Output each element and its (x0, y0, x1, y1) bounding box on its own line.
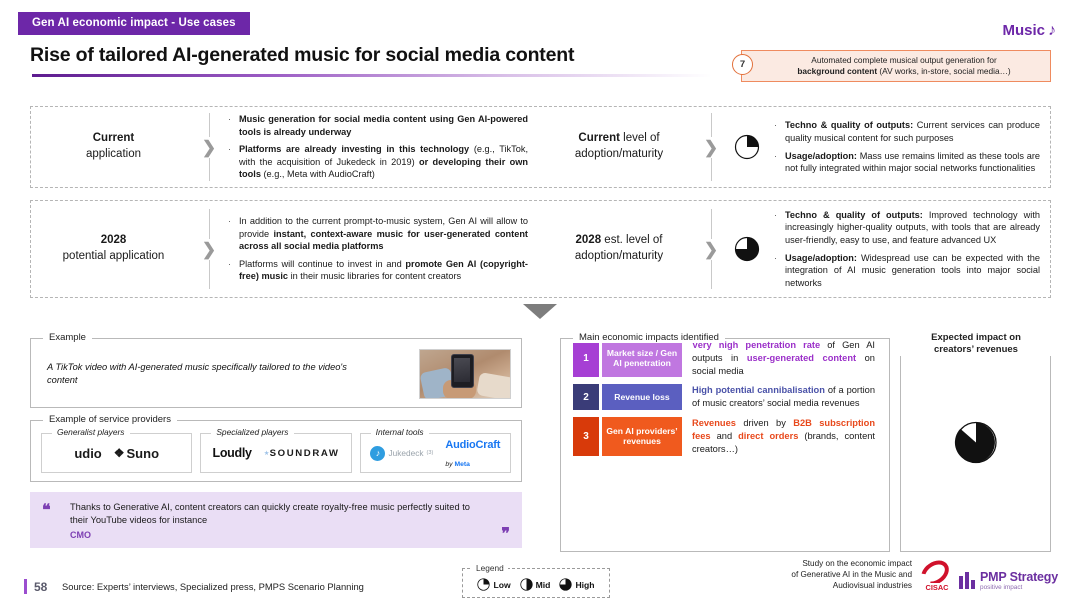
audiocraft-logo: AudioCraft by Meta (445, 435, 500, 471)
bullet-text: Techno & quality of outputs: Improved te… (785, 209, 1040, 247)
impact-2-description: High potential cannibalisation of a port… (682, 384, 877, 410)
bullet-dot-icon: · (228, 143, 239, 181)
bullet-text: In addition to the current prompt-to-mus… (239, 215, 528, 253)
expected-legend-line1: Expected impact on (931, 332, 1021, 343)
current-maturity-pie (724, 107, 770, 187)
providers-groups: Generalist players udio ❖ Suno Specializ… (31, 421, 521, 481)
chevron-divider-2: ❯ (698, 107, 724, 187)
row-current-label: Current application (31, 107, 196, 187)
internal-tools-legend: Internal tools (371, 427, 429, 437)
bullet-dot-icon: · (774, 150, 785, 175)
impact-3-description: Revenues driven by B2B subscription fees… (682, 417, 877, 455)
row-2028-label-strong: 2028 (101, 233, 127, 249)
generalist-players-legend: Generalist players (52, 427, 130, 437)
bullet-dot-icon: · (774, 209, 785, 247)
suno-mark-icon: ❖ (114, 446, 125, 460)
impact-1-description: Very high penetration rate of Gen AI out… (682, 339, 877, 377)
pie-very-high-icon (954, 421, 998, 465)
bullet-item: · Music generation for social media cont… (228, 113, 528, 138)
bullet-text: Music generation for social media conten… (239, 113, 528, 138)
row-current-bullets: · Music generation for social media cont… (222, 107, 540, 187)
udio-logo: udio (74, 446, 101, 461)
2028-maturity-pie (724, 201, 770, 297)
jukedeck-logo-text: Jukedeck (388, 448, 423, 458)
usecase-number-circle: 7 (732, 54, 753, 75)
expected-impact-legend: Expected impact on creators’ revenues (896, 332, 1056, 356)
study-line3: Audiovisual industries (833, 581, 912, 590)
expected-impact-box: Expected impact on creators’ revenues (900, 338, 1051, 552)
legend-box: Legend Low Mid High (462, 568, 610, 598)
row-current-label-rest: application (86, 147, 141, 163)
providers-box-legend: Example of service providers (43, 414, 177, 425)
bullet-dot-icon: · (774, 252, 785, 290)
person-filming-with-phone-photo (419, 349, 511, 399)
usecase-line1: Automated complete musical output genera… (811, 55, 996, 65)
music-note-icon: ♪ (1048, 22, 1056, 39)
legend-item-mid: Mid (520, 578, 551, 591)
soundraw-logo: ⋆SOUNDRAW (264, 448, 340, 459)
bullet-item: · In addition to the current prompt-to-m… (228, 215, 528, 253)
bullet-item: · Platforms are already investing in thi… (228, 143, 528, 181)
legend-title: Legend (472, 563, 508, 573)
audiocraft-by: by Meta (445, 461, 470, 468)
photo-phone (451, 354, 474, 389)
page-title: Rise of tailored AI-generated music for … (30, 44, 574, 67)
bullet-dot-icon: · (228, 215, 239, 253)
photo-phone-screen (454, 358, 470, 382)
kicker-badge: Gen AI economic impact - Use cases (18, 12, 250, 35)
internal-tools-group: Internal tools ♪ Jukedeck (3) AudioCraft… (360, 433, 511, 473)
impacts-box-legend: Main economic impacts identified (573, 332, 725, 343)
quote-text: Thanks to Generative AI, content creator… (70, 501, 482, 528)
economic-impacts-box: Main economic impacts identified 1 Marke… (560, 338, 890, 552)
bullet-item: · Usage/adoption: Widespread use can be … (774, 252, 1040, 290)
bullet-item: · Techno & quality of outputs: Improved … (774, 209, 1040, 247)
meta-logo-text: Meta (454, 461, 470, 468)
usecase-bold: background content (797, 66, 877, 76)
row-2028-application: 2028 potential application ❯ · In additi… (30, 200, 1051, 298)
maturity-label-strong: 2028 (576, 234, 602, 246)
row-2028-right-bullets: · Techno & quality of outputs: Improved … (770, 201, 1050, 297)
bullet-dot-icon: · (774, 119, 785, 144)
impact-3-name: Gen AI providers’ revenues (602, 417, 682, 455)
suno-logo-text: Suno (127, 446, 160, 461)
usecase-badge-text: Automated complete musical output genera… (742, 55, 1050, 77)
quote-open-icon: ❝ (42, 500, 51, 520)
source-text: Source: Experts’ interviews, Specialized… (62, 581, 364, 592)
bullet-text: Usage/adoption: Widespread use can be ex… (785, 252, 1040, 290)
bullet-text: Techno & quality of outputs: Current ser… (785, 119, 1040, 144)
pmp-bars-icon (959, 572, 975, 589)
specialized-players-legend: Specialized players (211, 427, 293, 437)
bullet-item: · Platforms will continue to invest in a… (228, 258, 528, 283)
music-label-text: Music (1002, 22, 1045, 39)
bullet-dot-icon: · (228, 113, 239, 138)
impact-3-number: 3 (573, 417, 599, 455)
pie-low-icon (734, 134, 760, 160)
cisac-logo: CISAC (918, 562, 954, 592)
page-number-bar (24, 579, 27, 594)
service-providers-box: Example of service providers Generalist … (30, 420, 522, 482)
legend-item-high: High (559, 578, 594, 591)
usecase-badge: Automated complete musical output genera… (741, 50, 1051, 82)
chevron-right-icon: ❯ (202, 137, 216, 158)
row-current-right-bullets: · Techno & quality of outputs: Current s… (770, 107, 1050, 187)
page-number-block: 58 (24, 579, 47, 594)
bullet-text: Platforms are already investing in this … (239, 143, 528, 181)
usecase-rest: (AV works, in-store, social media…) (877, 66, 1011, 76)
pie-mid-icon (520, 578, 533, 591)
chevron-divider-1: ❯ (196, 107, 222, 187)
row-2028-bullets: · In addition to the current prompt-to-m… (222, 201, 540, 297)
title-underline (32, 74, 712, 77)
pmp-logo-name: PMP Strategy (980, 570, 1058, 584)
flow-arrow-down-icon (523, 304, 557, 319)
study-line2: of Generative AI in the Music and (791, 570, 912, 579)
generalist-players-group: Generalist players udio ❖ Suno (41, 433, 192, 473)
row-current-application: Current application ❯ · Music generation… (30, 106, 1051, 188)
cisac-logo-text: CISAC (918, 583, 956, 592)
legend-item-low: Low (477, 578, 510, 591)
example-box-legend: Example (43, 332, 92, 343)
example-text: A TikTok video with AI-generated music s… (47, 361, 377, 388)
chevron-right-icon: ❯ (704, 137, 718, 158)
legend-label-low: Low (493, 580, 510, 590)
bullet-text: Platforms will continue to invest in and… (239, 258, 528, 283)
page-number: 58 (34, 580, 47, 594)
jukedeck-logo: ♪ Jukedeck (3) (370, 446, 433, 461)
pmp-strategy-logo: PMP Strategy positive impact (959, 570, 1058, 591)
legend-label-high: High (575, 580, 594, 590)
legend-items: Low Mid High (463, 569, 609, 597)
study-credit-text: Study on the economic impact of Generati… (791, 559, 912, 592)
quote-author: CMO (70, 530, 91, 540)
row-2028-maturity-label: 2028 est. level of adoption/maturity (540, 201, 698, 297)
impact-2-number: 2 (573, 384, 599, 410)
loudly-logo: Loudly (212, 446, 251, 460)
impact-1-name: Market size / Gen AI penetration (602, 339, 682, 377)
chevron-divider-3: ❯ (196, 201, 222, 297)
pie-low-icon (477, 578, 490, 591)
chevron-right-icon: ❯ (202, 239, 216, 260)
bullet-dot-icon: · (228, 258, 239, 283)
jukedeck-mark-icon: ♪ (370, 446, 385, 461)
impact-2-name: Revenue loss (602, 384, 682, 410)
pie-high-icon (559, 578, 572, 591)
impact-row-3: 3 Gen AI providers’ revenues Revenues dr… (573, 417, 877, 455)
pmp-logo-text-block: PMP Strategy positive impact (980, 570, 1058, 591)
expected-impact-pie (954, 421, 998, 470)
row-current-maturity-label: Current level of adoption/maturity (540, 107, 698, 187)
music-section-label: Music♪ (1002, 22, 1056, 40)
bullet-item: · Usage/adoption: Mass use remains limit… (774, 150, 1040, 175)
row-2028-label-rest: potential application (63, 249, 165, 265)
quote-box: ❝ Thanks to Generative AI, content creat… (30, 492, 522, 548)
example-box: Example A TikTok video with AI-generated… (30, 338, 522, 408)
suno-logo: ❖ Suno (114, 446, 159, 461)
legend-label-mid: Mid (536, 580, 551, 590)
expected-legend-line2: creators’ revenues (934, 344, 1018, 355)
jukedeck-footnote: (3) (427, 450, 434, 456)
soundraw-logo-text: SOUNDRAW (270, 448, 340, 459)
chevron-right-icon: ❯ (704, 239, 718, 260)
specialized-players-group: Specialized players Loudly ⋆SOUNDRAW (200, 433, 351, 473)
row-2028-label: 2028 potential application (31, 201, 196, 297)
chevron-divider-4: ❯ (698, 201, 724, 297)
row-current-label-strong: Current (93, 131, 135, 147)
bullet-text: Usage/adoption: Mass use remains limited… (785, 150, 1040, 175)
quote-close-icon: ❞ (501, 524, 510, 544)
bullet-item: · Techno & quality of outputs: Current s… (774, 119, 1040, 144)
pie-high-icon (734, 236, 760, 262)
maturity-label-strong: Current (578, 132, 620, 144)
pmp-logo-tagline: positive impact (980, 584, 1058, 591)
photo-arm-right (476, 372, 511, 399)
impact-row-1: 1 Market size / Gen AI penetration Very … (573, 339, 877, 377)
study-line1: Study on the economic impact (802, 559, 912, 568)
impact-1-number: 1 (573, 339, 599, 377)
audiocraft-logo-text: AudioCraft (445, 439, 500, 451)
impact-row-2: 2 Revenue loss High potential cannibalis… (573, 384, 877, 410)
